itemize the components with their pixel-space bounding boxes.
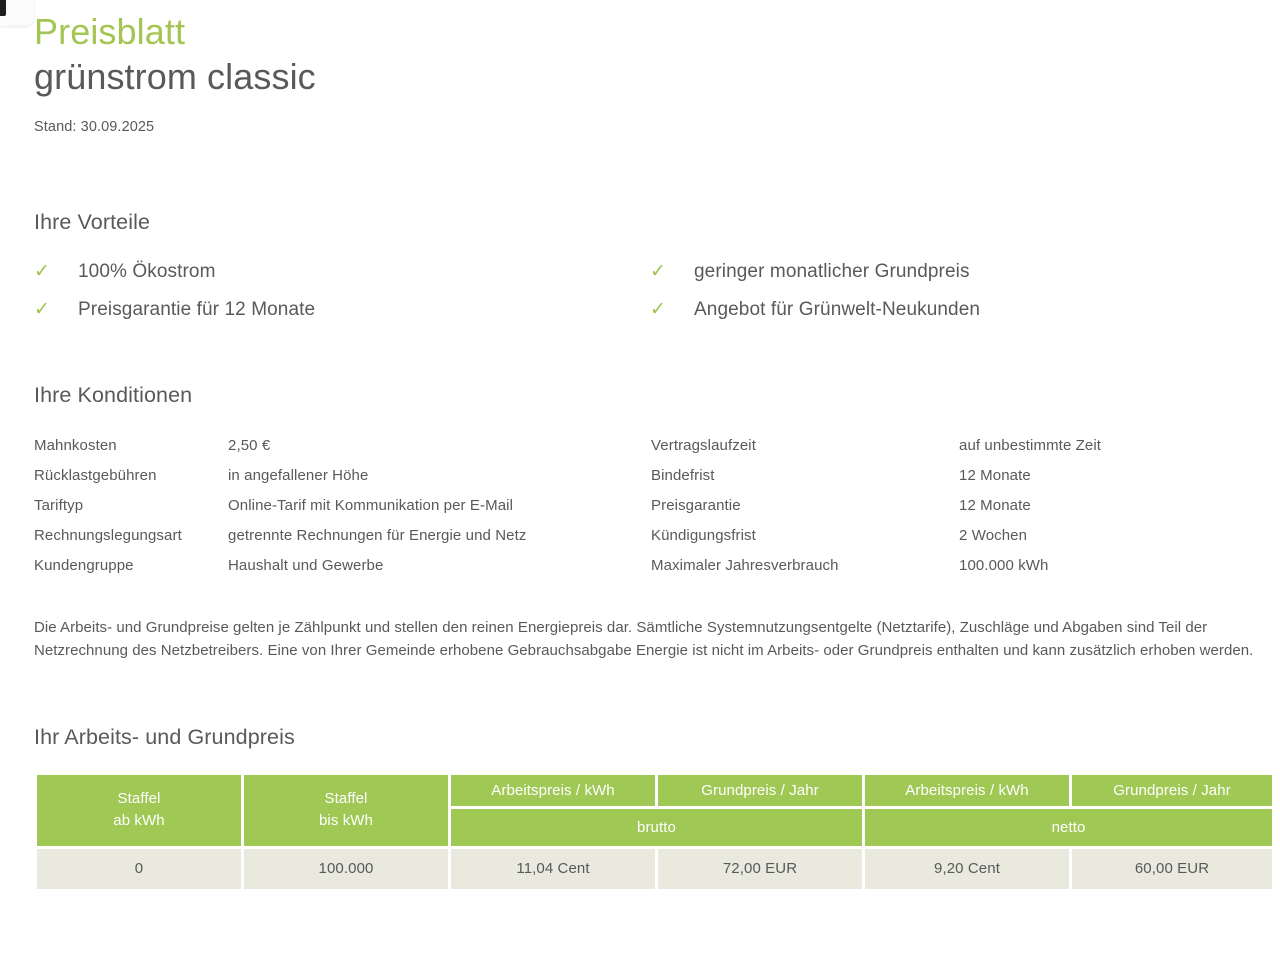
benefit-label: Angebot für Grünwelt-Neukunden	[694, 299, 980, 321]
price-sheet-page: Preisblatt grünstrom classic Stand: 30.0…	[0, 0, 1280, 973]
condition-row: Preisgarantie 12 Monate	[651, 490, 1260, 520]
condition-key: Vertragslaufzeit	[651, 437, 959, 454]
header-grundpreis-netto: Grundpreis / Jahr	[1072, 775, 1272, 806]
condition-value: Online-Tarif mit Kommunikation per E-Mai…	[228, 497, 651, 514]
benefit-label: geringer monatlicher Grundpreis	[694, 261, 970, 283]
check-icon: ✓	[650, 262, 694, 281]
cell-arbeitspreis-brutto: 11,04 Cent	[451, 849, 655, 889]
header-staffel-ab-line2: ab kWh	[37, 810, 241, 833]
condition-value: 100.000 kWh	[959, 557, 1260, 574]
condition-row: Kündigungsfrist 2 Wochen	[651, 520, 1260, 550]
page-title-product-type: Preisblatt	[34, 10, 1260, 53]
condition-value: auf unbestimmte Zeit	[959, 437, 1260, 454]
cell-staffel-bis: 100.000	[244, 849, 448, 889]
price-table-header-row-top: Staffel ab kWh Staffel bis kWh Arbeitspr…	[37, 775, 1272, 806]
condition-value: 12 Monate	[959, 467, 1260, 484]
conditions-column-left: Mahnkosten 2,50 € Rücklastgebühren in an…	[34, 430, 651, 580]
check-icon: ✓	[34, 300, 78, 319]
check-icon: ✓	[34, 262, 78, 281]
check-icon: ✓	[650, 300, 694, 319]
condition-key: Rücklastgebühren	[34, 467, 228, 484]
benefit-item: ✓ Angebot für Grünwelt-Neukunden	[650, 299, 1260, 321]
legal-disclaimer-text: Die Arbeits- und Grundpreise gelten je Z…	[34, 616, 1260, 663]
benefit-item: ✓ 100% Ökostrom	[34, 261, 650, 283]
cell-grundpreis-netto: 60,00 EUR	[1072, 849, 1272, 889]
section-heading-conditions: Ihre Konditionen	[34, 383, 1260, 408]
condition-key: Rechnungslegungsart	[34, 527, 228, 544]
header-staffel-bis: Staffel bis kWh	[244, 775, 448, 846]
cell-grundpreis-brutto: 72,00 EUR	[658, 849, 862, 889]
condition-key: Preisgarantie	[651, 497, 959, 514]
header-staffel-ab: Staffel ab kWh	[37, 775, 241, 846]
condition-row: Vertragslaufzeit auf unbestimmte Zeit	[651, 430, 1260, 460]
condition-row: Rücklastgebühren in angefallener Höhe	[34, 460, 651, 490]
window-corner-artifact	[0, 0, 34, 26]
header-group-brutto: brutto	[451, 809, 862, 846]
benefit-item: ✓ geringer monatlicher Grundpreis	[650, 261, 1260, 283]
header-group-netto: netto	[865, 809, 1272, 846]
benefit-label: Preisgarantie für 12 Monate	[78, 299, 315, 321]
condition-key: Kundengruppe	[34, 557, 228, 574]
header-grundpreis-brutto: Grundpreis / Jahr	[658, 775, 862, 806]
condition-key: Bindefrist	[651, 467, 959, 484]
condition-row: Rechnungslegungsart getrennte Rechnungen…	[34, 520, 651, 550]
condition-key: Kündigungsfrist	[651, 527, 959, 544]
header-staffel-bis-line2: bis kWh	[244, 810, 448, 833]
document-date: Stand: 30.09.2025	[34, 119, 1260, 135]
condition-value: 2,50 €	[228, 437, 651, 454]
cell-arbeitspreis-netto: 9,20 Cent	[865, 849, 1069, 889]
page-title-product-name: grünstrom classic	[34, 55, 1260, 99]
condition-value: 12 Monate	[959, 497, 1260, 514]
cell-staffel-ab: 0	[37, 849, 241, 889]
condition-value: getrennte Rechnungen für Energie und Net…	[228, 527, 651, 544]
condition-value: 2 Wochen	[959, 527, 1260, 544]
condition-key: Mahnkosten	[34, 437, 228, 454]
document-content: Preisblatt grünstrom classic Stand: 30.0…	[34, 0, 1260, 892]
condition-value: Haushalt und Gewerbe	[228, 557, 651, 574]
condition-value: in angefallener Höhe	[228, 467, 651, 484]
conditions-column-right: Vertragslaufzeit auf unbestimmte Zeit Bi…	[651, 430, 1260, 580]
condition-row: Bindefrist 12 Monate	[651, 460, 1260, 490]
benefits-list: ✓ 100% Ökostrom ✓ geringer monatlicher G…	[34, 261, 1260, 321]
header-staffel-ab-line1: Staffel	[37, 788, 241, 811]
condition-key: Tariftyp	[34, 497, 228, 514]
condition-key: Maximaler Jahresverbrauch	[651, 557, 959, 574]
section-heading-price: Ihr Arbeits- und Grundpreis	[34, 725, 1260, 750]
condition-row: Maximaler Jahresverbrauch 100.000 kWh	[651, 550, 1260, 580]
condition-row: Kundengruppe Haushalt und Gewerbe	[34, 550, 651, 580]
price-table: Staffel ab kWh Staffel bis kWh Arbeitspr…	[34, 772, 1275, 892]
price-table-row: 0 100.000 11,04 Cent 72,00 EUR 9,20 Cent…	[37, 849, 1272, 889]
condition-row: Tariftyp Online-Tarif mit Kommunikation …	[34, 490, 651, 520]
header-arbeitspreis-netto: Arbeitspreis / kWh	[865, 775, 1069, 806]
benefit-label: 100% Ökostrom	[78, 261, 216, 283]
header-arbeitspreis-brutto: Arbeitspreis / kWh	[451, 775, 655, 806]
header-staffel-bis-line1: Staffel	[244, 788, 448, 811]
section-heading-benefits: Ihre Vorteile	[34, 210, 1260, 235]
conditions-table: Mahnkosten 2,50 € Rücklastgebühren in an…	[34, 430, 1260, 580]
condition-row: Mahnkosten 2,50 €	[34, 430, 651, 460]
benefit-item: ✓ Preisgarantie für 12 Monate	[34, 299, 650, 321]
